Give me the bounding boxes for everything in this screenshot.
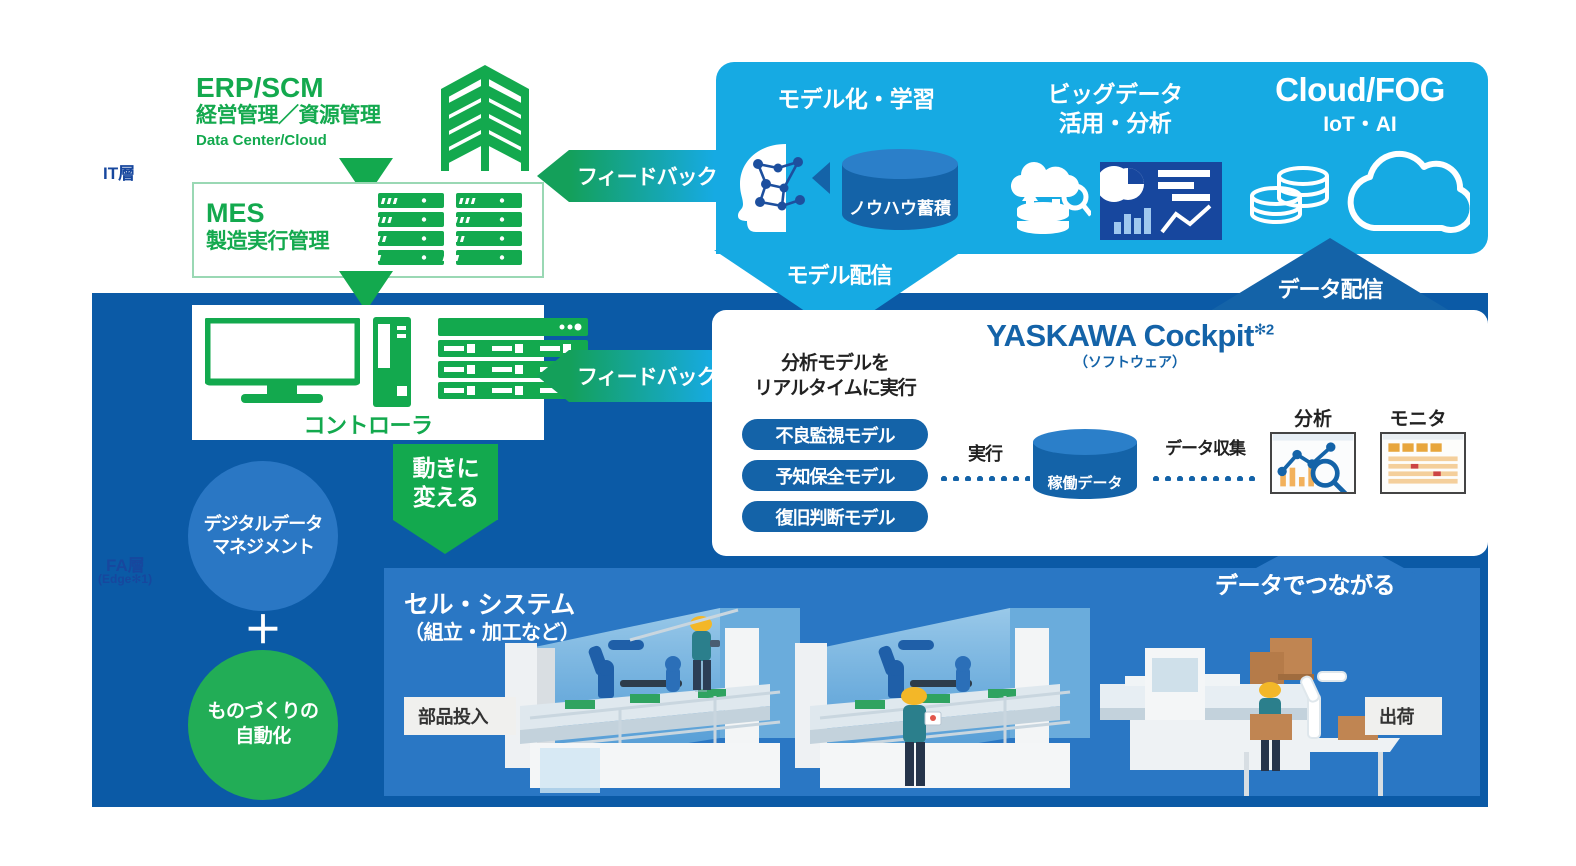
cloud-fog-subtitle: IoT・AI	[1240, 108, 1480, 138]
cockpit-subtitle: （ソフトウェア）	[930, 352, 1330, 372]
motion-banner-arrow-tip	[393, 520, 497, 554]
dotted-line-execute	[938, 476, 1030, 481]
pc-tower-icon	[372, 316, 412, 408]
chevron-right-icon	[498, 697, 516, 735]
feedback-arrow-top-body: フィードバック	[569, 150, 727, 202]
cell-system-title: セル・システム	[404, 590, 580, 620]
monitor-thumbnail-icon[interactable]	[1380, 432, 1466, 494]
cloud-fog-title: Cloud/FOG	[1240, 72, 1480, 108]
monitor-icon	[205, 318, 360, 404]
left-triangle-icon	[812, 162, 830, 194]
cloud-fog-title-group: Cloud/FOG IoT・AI	[1240, 72, 1480, 138]
data-delivery-arrow: データ配信	[1205, 238, 1455, 314]
data-collect-label: データ収集	[1150, 434, 1260, 459]
feedback-arrow-top: フィードバック	[537, 150, 727, 202]
fa-layer-sublabel: (Edge✻1)	[98, 572, 152, 586]
dashboard-icon	[1100, 162, 1222, 240]
operation-data-cylinder-icon: 稼働データ	[1030, 428, 1140, 500]
arrow-head-left-icon	[537, 350, 569, 402]
circle-dm-line2: マネジメント	[204, 536, 323, 559]
server-rack-icon	[378, 193, 522, 267]
operation-data-cylinder-label: 稼働データ	[1047, 474, 1122, 492]
cloud-upload-icon	[995, 145, 1091, 237]
circle-monozukuri-automation: ものづくりの 自動化	[188, 650, 338, 800]
circle-auto-line2: 自動化	[207, 725, 318, 750]
model-pill-defect-monitoring[interactable]: 不良監視モデル	[742, 419, 928, 450]
big-data-title-line1: ビッグデータ	[1015, 80, 1215, 109]
circle-auto-line1: ものづくりの	[207, 700, 318, 725]
cockpit-title: YASKAWA Cockpit✻2	[930, 318, 1330, 354]
circle-dm-text: デジタルデータ マネジメント	[204, 513, 323, 560]
cloud-icon	[1340, 150, 1470, 236]
knowhow-cylinder-label: ノウハウ蓄積	[849, 198, 952, 218]
modeling-learning-title: モデル化・学習	[746, 80, 966, 114]
circle-dm-line1: デジタルデータ	[204, 513, 323, 536]
motion-banner-text: 動きに 変える	[393, 454, 498, 512]
motion-banner: 動きに 変える	[393, 444, 498, 554]
controller-label: コントローラ	[192, 408, 544, 440]
analysis-thumbnail-icon[interactable]	[1270, 432, 1356, 494]
realtime-execution-label: 分析モデルを リアルタイムに実行	[730, 352, 940, 401]
realtime-label-line1: 分析モデルを	[730, 352, 940, 377]
analysis-label: 分析	[1278, 404, 1348, 431]
feedback-arrow-top-label: フィードバック	[569, 161, 717, 191]
model-pill-recovery-judgement[interactable]: 復旧判断モデル	[742, 501, 928, 532]
model-delivery-label: モデル配信	[714, 258, 964, 290]
big-data-title-line2: 活用・分析	[1015, 109, 1215, 138]
plus-sign: ＋	[188, 612, 338, 650]
model-pill-predictive-maintenance[interactable]: 予知保全モデル	[742, 460, 928, 491]
dotted-line-collect	[1150, 476, 1260, 481]
parts-input-label: 部品投入	[404, 703, 498, 729]
circle-auto-text: ものづくりの 自動化	[207, 700, 318, 749]
mes-title: MES	[206, 198, 329, 229]
big-data-title: ビッグデータ 活用・分析	[1015, 80, 1215, 139]
motion-banner-line2: 変える	[393, 483, 498, 512]
factory-cell-line-illustration	[470, 588, 1480, 796]
parts-input-tag: 部品投入	[404, 697, 516, 735]
cockpit-title-text: YASKAWA Cockpit	[986, 318, 1254, 353]
cell-system-title-group: セル・システム （組立・加工など）	[404, 590, 580, 646]
motion-banner-line1: 動きに	[393, 454, 498, 483]
diagram-canvas: セル・システム （組立・加工など） データでつながる 部品投入 出荷 IT層 F…	[0, 0, 1576, 866]
db-stack-icon	[1248, 162, 1338, 224]
ai-head-icon	[726, 140, 812, 232]
circle-digital-data-management: デジタルデータ マネジメント	[188, 461, 338, 611]
execute-label: 実行	[940, 440, 1030, 466]
feedback-arrow-bottom: フィードバック	[537, 350, 727, 402]
cell-system-subtitle: （組立・加工など）	[404, 620, 580, 646]
chevron-right-icon	[1424, 697, 1442, 735]
arrow-head-left-icon	[537, 150, 569, 202]
mes-text-group: MES 製造実行管理	[206, 198, 329, 255]
knowhow-cylinder-icon: ノウハウ蓄積	[838, 148, 962, 230]
it-layer-label: IT層	[103, 159, 135, 184]
feedback-arrow-bottom-body: フィードバック	[569, 350, 727, 402]
shipping-label: 出荷	[1365, 703, 1424, 729]
cockpit-title-superscript: ✻2	[1254, 322, 1274, 339]
shipping-tag: 出荷	[1365, 697, 1442, 735]
monitor-label: モニタ	[1380, 404, 1456, 431]
mes-subtitle: 製造実行管理	[206, 229, 329, 255]
feedback-arrow-bottom-label: フィードバック	[569, 361, 717, 391]
realtime-label-line2: リアルタイムに実行	[730, 377, 940, 402]
data-delivery-label: データ配信	[1205, 272, 1455, 304]
building-icon	[437, 63, 533, 173]
